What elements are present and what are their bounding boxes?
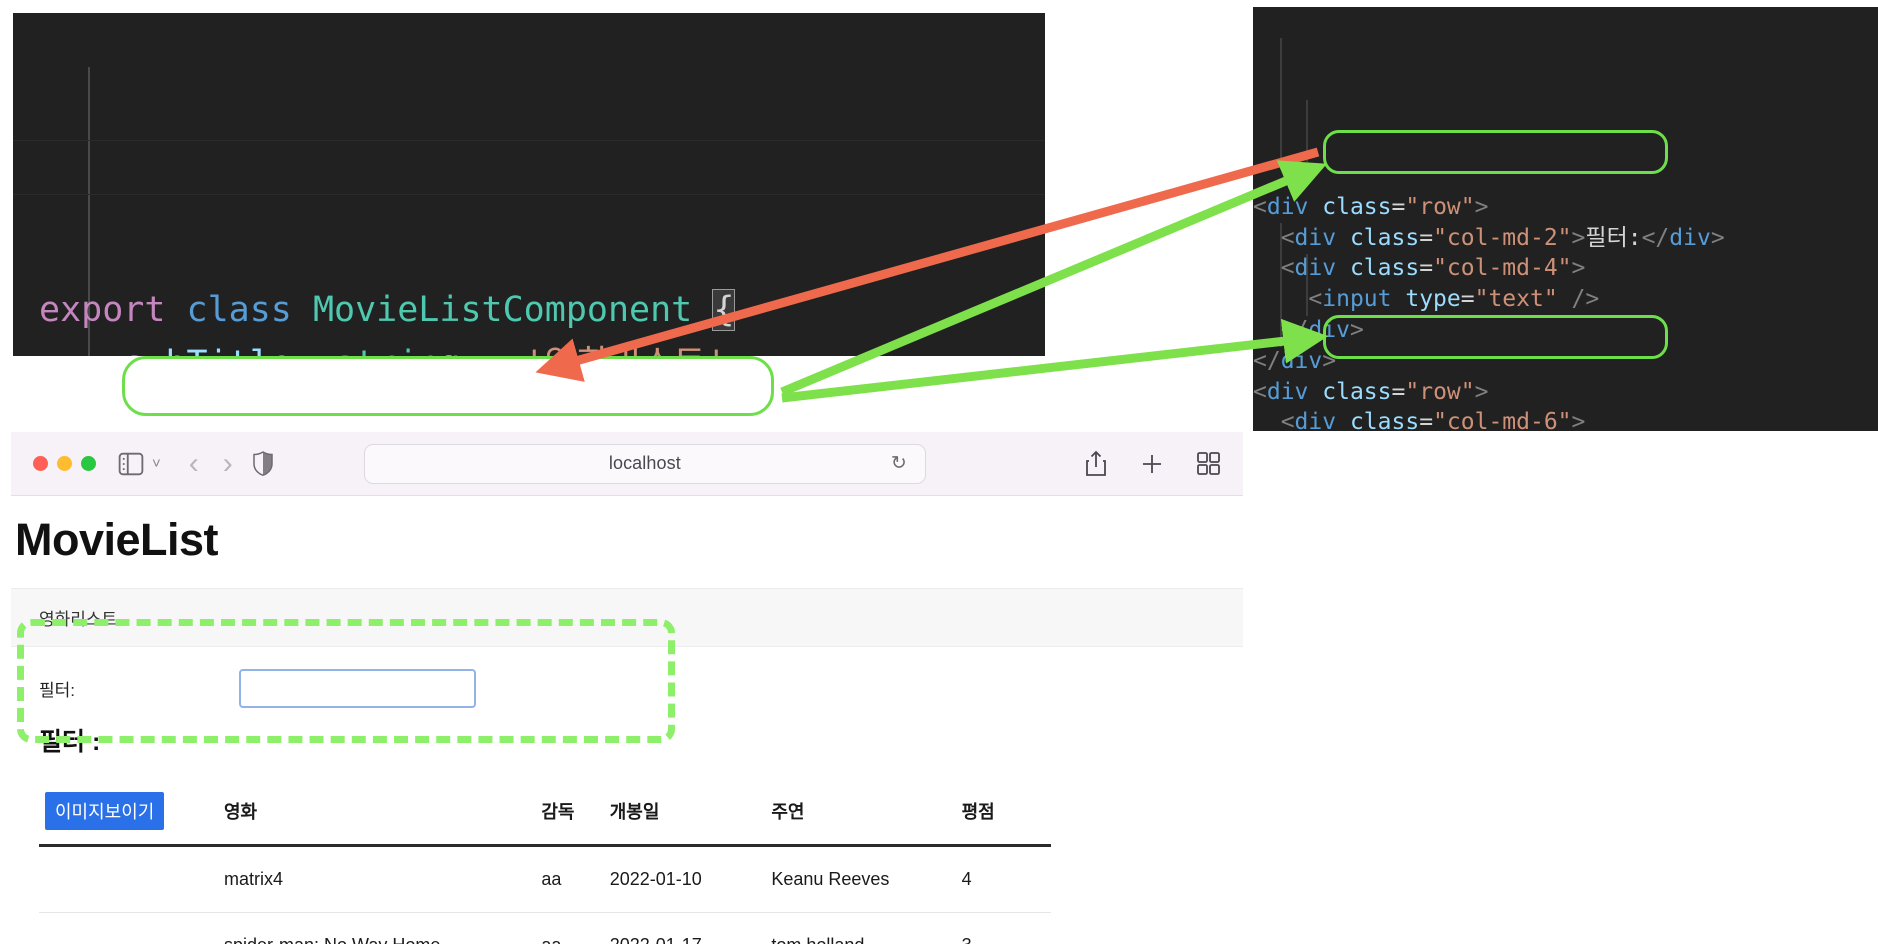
row-rating: 4 xyxy=(956,846,1051,913)
code-token: = xyxy=(460,344,523,356)
table-header-movie: 영화 xyxy=(218,782,535,846)
html-code-panel: <div class="row"> <div class="col-md-2">… xyxy=(1253,7,1878,431)
code-token: class xyxy=(187,290,292,330)
code-token: = xyxy=(1419,225,1433,251)
code-token: < xyxy=(1253,409,1295,431)
back-arrow-icon[interactable]: ‹ xyxy=(177,447,211,481)
shield-icon xyxy=(253,451,273,476)
code-token: > xyxy=(1572,225,1586,251)
code-token: string xyxy=(334,344,460,356)
code-token: class xyxy=(1322,379,1391,405)
subtitle-bar: 영화리스트 xyxy=(11,588,1243,647)
code-token: class xyxy=(1350,409,1419,431)
code-token: subTitle xyxy=(123,344,292,356)
filter-input[interactable] xyxy=(239,669,476,708)
code-line: export class MovieListComponent { xyxy=(13,283,1045,337)
filter-heading: 필터 : xyxy=(39,722,1243,758)
sidebar-toggle-button[interactable] xyxy=(118,452,144,476)
code-token: > xyxy=(1322,348,1336,374)
code-token xyxy=(1336,225,1350,251)
code-token: div xyxy=(1295,255,1337,281)
code-token: < xyxy=(1253,225,1295,251)
code-token xyxy=(165,290,186,330)
row-director: aa xyxy=(535,913,603,944)
forward-arrow-icon[interactable]: › xyxy=(211,447,245,481)
row-lead-actor: Keanu Reeves xyxy=(765,846,955,913)
browser-window: ˅ ‹ › localhost ↻ xyxy=(11,432,1243,944)
code-token: MovieListComponent xyxy=(313,290,692,330)
code-line: <div class="col-md-4"> xyxy=(1253,253,1878,284)
code-token: "row" xyxy=(1405,194,1474,220)
code-token xyxy=(1308,379,1322,405)
table-header-toggle: 이미지보이기 xyxy=(39,782,218,846)
code-token: "text" xyxy=(1475,286,1558,312)
table-header-release-date: 개봉일 xyxy=(604,782,766,846)
code-token: class xyxy=(1322,194,1391,220)
code-token: "col-md-6" xyxy=(1433,409,1571,431)
code-token: type xyxy=(1405,286,1460,312)
page-title: MovieList xyxy=(15,514,1243,566)
code-token: div xyxy=(1267,379,1309,405)
code-token: < xyxy=(1253,286,1322,312)
code-token xyxy=(1308,194,1322,220)
code-token xyxy=(692,290,713,330)
code-token: "col-md-4" xyxy=(1433,255,1571,281)
address-bar-url: localhost xyxy=(609,453,681,474)
code-token: export xyxy=(39,290,165,330)
code-token: = xyxy=(1461,286,1475,312)
row-release-date: 2022-01-10 xyxy=(604,846,766,913)
code-token: '영화리스트' xyxy=(524,344,727,356)
code-token: = xyxy=(1419,409,1433,431)
code-token: { xyxy=(713,290,734,330)
code-token: 필터: xyxy=(1585,225,1641,251)
table-header-rating: 평점 xyxy=(956,782,1051,846)
code-token: > xyxy=(1572,255,1586,281)
code-token xyxy=(1392,286,1406,312)
indent-guide xyxy=(1306,100,1308,162)
indent-guide xyxy=(1280,38,1282,162)
code-token: : xyxy=(292,344,334,356)
reload-icon[interactable]: ↻ xyxy=(891,452,907,475)
row-thumbnail xyxy=(39,846,218,913)
tab-overview-icon[interactable] xyxy=(1196,451,1221,476)
code-line: <div class="col-md-2">필터:</div> xyxy=(1253,223,1878,254)
code-token: = xyxy=(1392,379,1406,405)
table-header-director: 감독 xyxy=(535,782,603,846)
code-token: > xyxy=(1711,225,1725,251)
filter-label: 필터: xyxy=(39,676,239,701)
code-token xyxy=(1336,255,1350,281)
code-token: </ xyxy=(1642,225,1670,251)
code-token: </ xyxy=(1253,317,1308,343)
web-page-content: MovieList 영화리스트 필터: 필터 : 이미지보이기 영화 감독 개봉… xyxy=(11,514,1243,944)
browser-toolbar: ˅ ‹ › localhost ↻ xyxy=(11,432,1243,496)
table-row: matrix4aa2022-01-10Keanu Reeves4 xyxy=(39,846,1051,913)
row-rating: 3 xyxy=(956,913,1051,944)
code-token: div xyxy=(1669,225,1711,251)
typescript-code-lines: export class MovieListComponent { subTit… xyxy=(13,283,1045,356)
code-token: /> xyxy=(1558,286,1600,312)
window-traffic-lights[interactable] xyxy=(33,456,96,471)
movie-table: 이미지보이기 영화 감독 개봉일 주연 평점 matrix4aa2022-01-… xyxy=(39,782,1051,944)
highlight-filtertext-line xyxy=(122,356,774,416)
row-director: aa xyxy=(535,846,603,913)
code-line: <div class="col-md-6"> xyxy=(1253,407,1878,431)
code-line: subTitle: string = '영화리스트'; xyxy=(13,337,1045,356)
code-token: div xyxy=(1267,194,1309,220)
privacy-report-button[interactable] xyxy=(253,451,273,476)
code-line: </div> xyxy=(1253,315,1878,346)
code-token: div xyxy=(1281,348,1323,374)
filter-row: 필터: xyxy=(11,647,1243,708)
row-release-date: 2022-01-17 xyxy=(604,913,766,944)
close-window-button[interactable] xyxy=(33,456,48,471)
plus-icon[interactable] xyxy=(1140,452,1164,476)
code-line: <div class="row"> xyxy=(1253,377,1878,408)
code-token: "row" xyxy=(1405,379,1474,405)
movie-table-body: matrix4aa2022-01-10Keanu Reeves4spider-m… xyxy=(39,846,1051,944)
code-token: class xyxy=(1350,255,1419,281)
code-token: > xyxy=(1350,317,1364,343)
share-icon[interactable] xyxy=(1084,450,1108,477)
code-token: "col-md-2" xyxy=(1433,225,1571,251)
sidebar-icon xyxy=(118,452,144,476)
table-header-lead-actor: 주연 xyxy=(765,782,955,846)
table-row: spider-man: No Way Homeaa2022-01-17tom h… xyxy=(39,913,1051,944)
minimize-window-button[interactable] xyxy=(57,456,72,471)
code-token: = xyxy=(1419,255,1433,281)
typescript-code-panel: export class MovieListComponent { subTit… xyxy=(13,13,1045,356)
table-header-row: 이미지보이기 영화 감독 개봉일 주연 평점 xyxy=(39,782,1051,846)
code-token: > xyxy=(1475,379,1489,405)
code-line: <div class="row"> xyxy=(1253,192,1878,223)
code-token: > xyxy=(1475,194,1489,220)
code-token: = xyxy=(1392,194,1406,220)
code-token xyxy=(292,290,313,330)
code-row-separator xyxy=(13,194,1045,195)
html-code-lines: <div class="row"> <div class="col-md-2">… xyxy=(1253,192,1878,431)
code-token: div xyxy=(1308,317,1350,343)
code-token: div xyxy=(1295,409,1337,431)
code-line: </div> xyxy=(1253,346,1878,377)
row-thumbnail xyxy=(39,913,218,944)
code-token: div xyxy=(1295,225,1337,251)
code-token: < xyxy=(1253,194,1267,220)
code-token: > xyxy=(1572,409,1586,431)
toggle-image-button[interactable]: 이미지보이기 xyxy=(45,792,164,830)
chevron-down-icon[interactable]: ˅ xyxy=(152,455,161,472)
zoom-window-button[interactable] xyxy=(81,456,96,471)
code-token xyxy=(39,344,123,356)
code-token xyxy=(1336,409,1350,431)
code-token: < xyxy=(1253,379,1267,405)
code-token: </ xyxy=(1253,348,1281,374)
address-bar[interactable]: localhost ↻ xyxy=(364,444,926,484)
code-token: input xyxy=(1322,286,1391,312)
code-row-separator xyxy=(13,140,1045,141)
code-token: ; xyxy=(727,344,748,356)
code-token: class xyxy=(1350,225,1419,251)
code-token: < xyxy=(1253,255,1295,281)
code-line: <input type="text" /> xyxy=(1253,284,1878,315)
row-movie: matrix4 xyxy=(218,846,535,913)
row-movie: spider-man: No Way Home xyxy=(218,913,535,944)
row-lead-actor: tom holland xyxy=(765,913,955,944)
